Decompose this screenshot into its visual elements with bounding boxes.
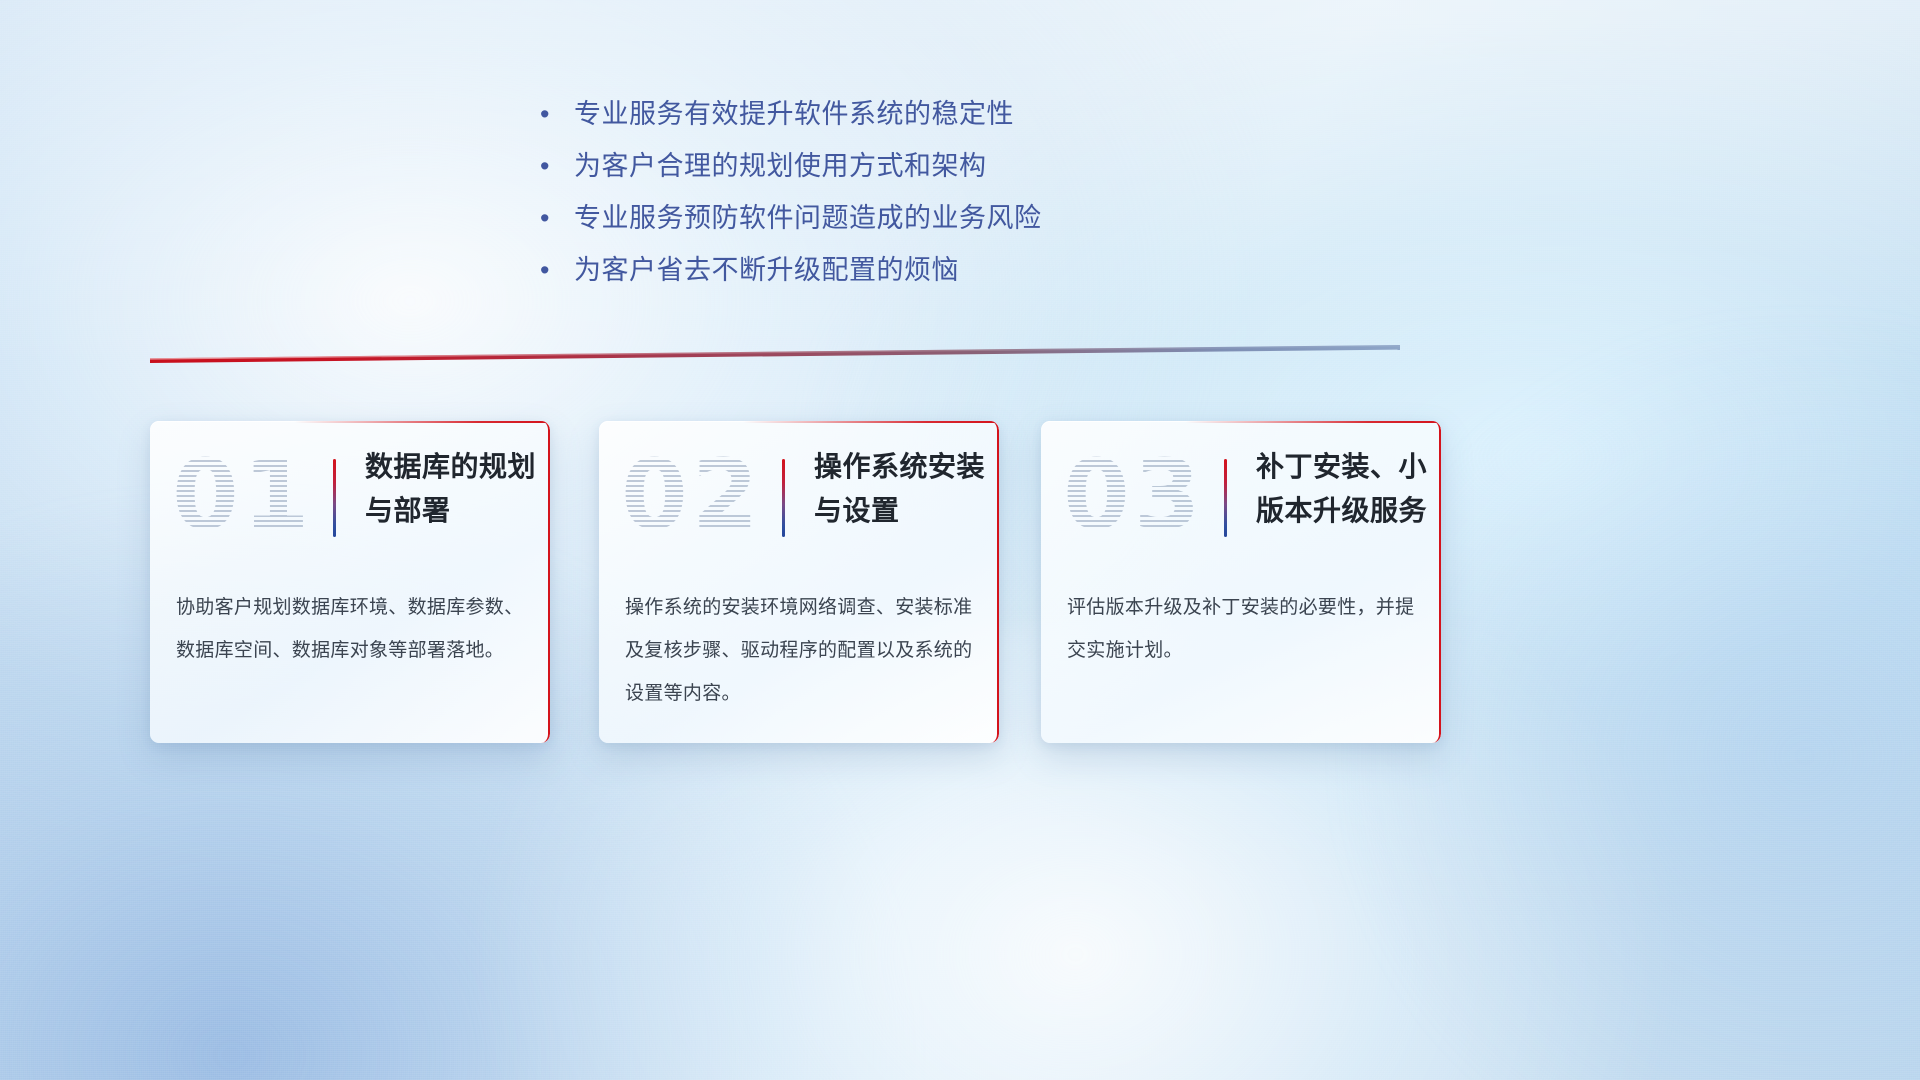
- bullet-dot-icon: •: [540, 244, 574, 296]
- bullet-item: • 为客户合理的规划使用方式和架构: [540, 140, 1440, 192]
- bullet-item: • 为客户省去不断升级配置的烦恼: [540, 244, 1440, 296]
- card-header: 03 补丁安装、小 版本升级服务: [1041, 421, 1441, 571]
- bullet-dot-icon: •: [540, 88, 574, 140]
- card-title-line: 补丁安装、小: [1256, 445, 1431, 489]
- card-description: 操作系统的安装环境网络调查、安装标准及复核步骤、驱动程序的配置以及系统的设置等内…: [625, 586, 977, 715]
- bullet-item: • 专业服务有效提升软件系统的稳定性: [540, 88, 1440, 140]
- card-number-watermark: 01: [172, 443, 314, 547]
- bullet-item-label: 为客户省去不断升级配置的烦恼: [574, 244, 959, 296]
- bullet-dot-icon: •: [540, 192, 574, 244]
- benefits-bullet-list: • 专业服务有效提升软件系统的稳定性 • 为客户合理的规划使用方式和架构 • 专…: [540, 88, 1440, 296]
- card-description: 协助客户规划数据库环境、数据库参数、数据库空间、数据库对象等部署落地。: [176, 586, 528, 672]
- card-header: 02 操作系统安装 与设置: [599, 421, 999, 571]
- service-card-group: 01 数据库的规划 与部署 协助客户规划数据库环境、数据库参数、数据库空间、数据…: [150, 421, 1460, 743]
- card-number-watermark: 02: [621, 443, 763, 547]
- card-accent-bar: [1224, 459, 1227, 537]
- bullet-item-label: 专业服务有效提升软件系统的稳定性: [574, 88, 1014, 140]
- card-accent-bar: [782, 459, 785, 537]
- card-title-line: 与部署: [365, 489, 540, 533]
- service-card[interactable]: 03 补丁安装、小 版本升级服务 评估版本升级及补丁安装的必要性，并提交实施计划…: [1041, 421, 1441, 743]
- section-divider: [150, 345, 1400, 367]
- card-title: 补丁安装、小 版本升级服务: [1256, 445, 1431, 533]
- service-card[interactable]: 01 数据库的规划 与部署 协助客户规划数据库环境、数据库参数、数据库空间、数据…: [150, 421, 550, 743]
- card-title: 数据库的规划 与部署: [365, 445, 540, 533]
- card-accent-bar: [333, 459, 336, 537]
- card-title-line: 操作系统安装: [814, 445, 989, 489]
- service-card[interactable]: 02 操作系统安装 与设置 操作系统的安装环境网络调查、安装标准及复核步骤、驱动…: [599, 421, 999, 743]
- card-title-line: 与设置: [814, 489, 989, 533]
- bullet-item-label: 为客户合理的规划使用方式和架构: [574, 140, 987, 192]
- card-title: 操作系统安装 与设置: [814, 445, 989, 533]
- card-title-line: 数据库的规划: [365, 445, 540, 489]
- tapered-rule-icon: [150, 345, 1400, 367]
- card-header: 01 数据库的规划 与部署: [150, 421, 550, 571]
- bullet-item: • 专业服务预防软件问题造成的业务风险: [540, 192, 1440, 244]
- card-description: 评估版本升级及补丁安装的必要性，并提交实施计划。: [1067, 586, 1419, 672]
- card-number-watermark: 03: [1063, 443, 1205, 547]
- bullet-dot-icon: •: [540, 140, 574, 192]
- card-title-line: 版本升级服务: [1256, 489, 1431, 533]
- bullet-item-label: 专业服务预防软件问题造成的业务风险: [574, 192, 1042, 244]
- slide-canvas: • 专业服务有效提升软件系统的稳定性 • 为客户合理的规划使用方式和架构 • 专…: [0, 0, 1920, 1080]
